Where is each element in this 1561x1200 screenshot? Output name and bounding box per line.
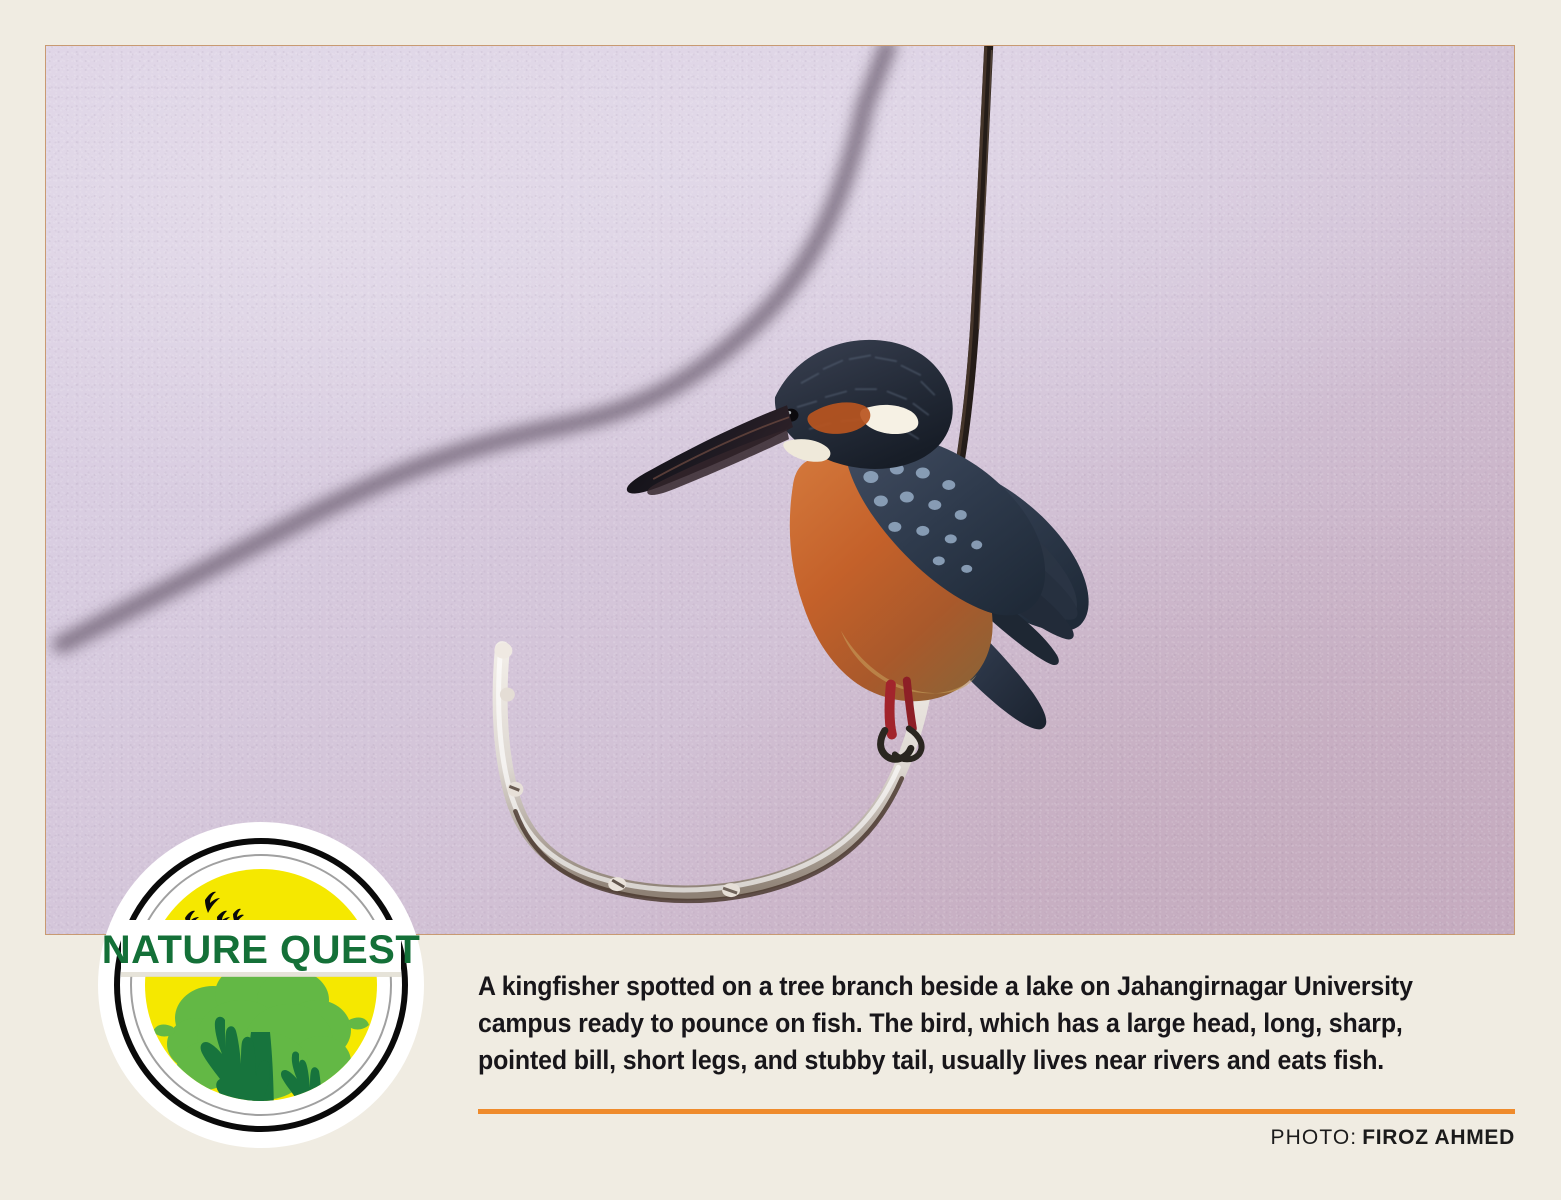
caption-text: A kingfisher spotted on a tree branch be… [478,968,1453,1079]
photo-credit-name: FIROZ AHMED [1362,1126,1515,1149]
blurred-branch [61,46,888,649]
photo-artwork [46,46,1514,934]
kingfisher-bird [627,340,1089,759]
bird-bill [627,405,793,495]
nature-quest-logo-artwork: NATURE QUEST [93,822,429,1148]
caption-divider-rule [478,1109,1515,1114]
logo-wordmark: NATURE QUEST [102,928,421,972]
caption-block: A kingfisher spotted on a tree branch be… [478,968,1515,1079]
page-root: NATURE QUEST A kingfisher spotted on a t… [0,0,1561,1200]
nature-quest-logo: NATURE QUEST [93,822,429,1148]
kingfisher-photograph [45,45,1515,935]
photo-credit: PHOTO:FIROZ AHMED [478,1126,1515,1150]
photo-credit-label: PHOTO: [1271,1126,1358,1149]
